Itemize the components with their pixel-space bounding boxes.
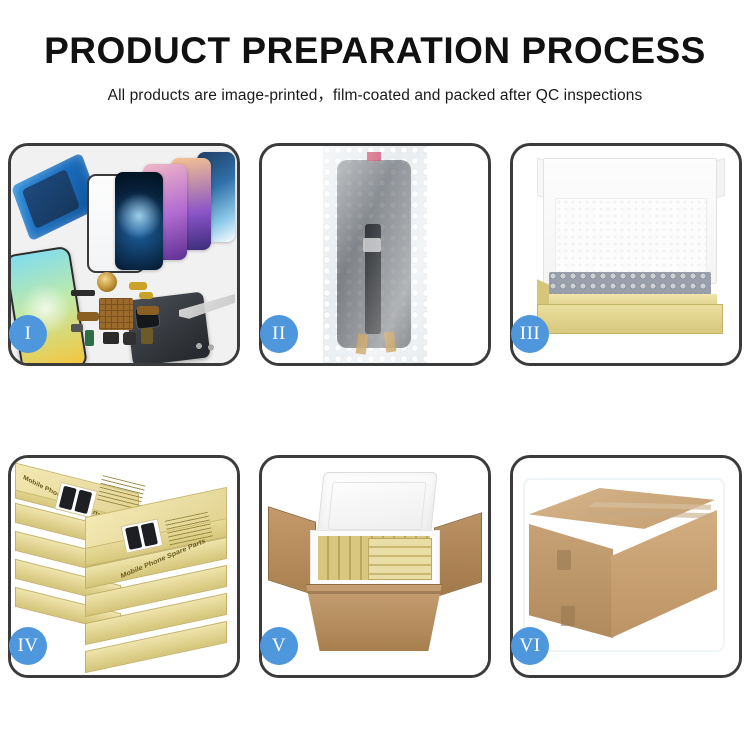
phone-screen-icon <box>115 172 163 270</box>
speaker-coil-icon <box>97 272 117 292</box>
process-step-4: Mobile Phone Spare Parts Mobile Phone Sp… <box>8 455 240 678</box>
foam-sheet-icon <box>555 198 707 278</box>
carton-seal-icon <box>557 550 571 570</box>
step-badge-1: I <box>9 315 47 353</box>
step-badge-2: II <box>260 315 298 353</box>
page-subtitle: All products are image-printed，film-coat… <box>0 83 750 105</box>
process-step-1: I <box>8 143 240 366</box>
spare-part-icon <box>123 332 136 345</box>
step-badge-5: V <box>260 627 298 665</box>
spare-part-icon <box>85 330 94 346</box>
carton-right-face <box>611 510 717 638</box>
screws-icon <box>193 339 223 353</box>
page-title: PRODUCT PREPARATION PROCESS <box>0 32 750 71</box>
carton-seal-icon <box>561 606 575 626</box>
chip-grid-icon <box>99 298 133 330</box>
process-step-5: V <box>259 455 491 678</box>
bubble-wrap-illustration <box>323 146 427 363</box>
spare-part-icon <box>71 324 83 332</box>
carton-front-icon <box>306 584 442 651</box>
packed-boxes-icon <box>368 538 432 580</box>
process-step-grid: I II <box>8 143 742 678</box>
spare-part-icon <box>77 312 99 321</box>
spare-part-icon <box>129 282 147 290</box>
step-badge-6: VI <box>511 627 549 665</box>
product-preparation-infographic: PRODUCT PREPARATION PROCESS All products… <box>0 0 750 750</box>
spare-part-icon <box>139 292 153 299</box>
step-badge-4: IV <box>9 627 47 665</box>
process-step-2: II <box>259 143 491 366</box>
process-step-6: VI <box>510 455 742 678</box>
process-step-3: III <box>510 143 742 366</box>
spare-part-icon <box>137 306 159 315</box>
spare-part-icon <box>141 328 153 344</box>
plastic-sheen <box>323 146 427 363</box>
box-stack-illustration: Mobile Phone Spare Parts Mobile Phone Sp… <box>15 476 237 672</box>
box-front-icon <box>537 304 723 334</box>
spare-part-icon <box>71 290 95 296</box>
spare-part-icon <box>103 332 119 344</box>
header: PRODUCT PREPARATION PROCESS All products… <box>0 0 750 105</box>
step-badge-3: III <box>511 315 549 353</box>
carton-flap-left-icon <box>268 506 316 596</box>
